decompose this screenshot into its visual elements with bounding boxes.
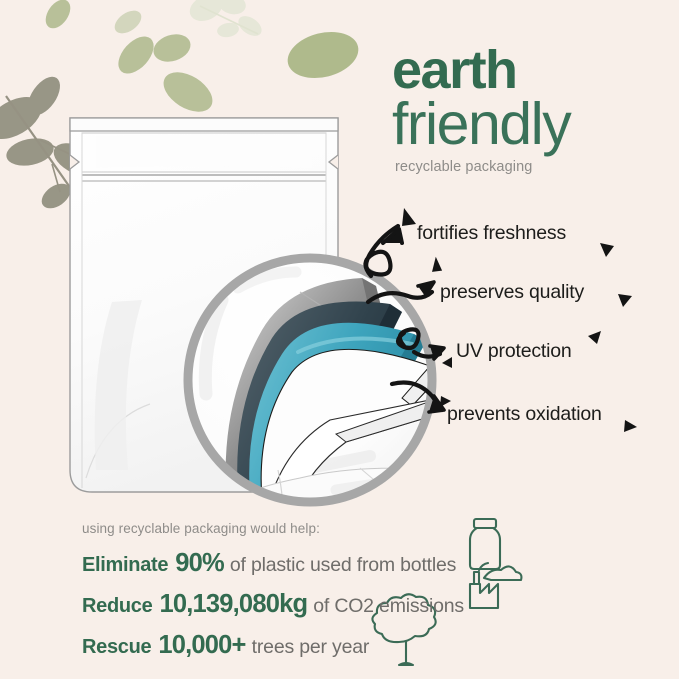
stat-description: of plastic used from bottles [230, 554, 456, 577]
feature-label-uv-protection: UV protection [456, 340, 572, 363]
stats-intro: using recyclable packaging would help: [82, 521, 602, 536]
headline-subtitle: recyclable packaging [395, 159, 672, 175]
stat-description: of CO2 emissions [313, 595, 464, 618]
headline-line-1: earth [392, 46, 672, 96]
stat-number: 10,000+ [158, 631, 245, 660]
stats-block: using recyclable packaging would help: E… [82, 521, 602, 672]
stat-number: 10,139,080kg [159, 590, 307, 619]
headline-line-2: friendly [392, 96, 672, 154]
stat-row-eliminate: Eliminate 90% of plastic used from bottl… [82, 549, 602, 578]
stat-row-reduce: Reduce 10,139,080kg of CO2 emissions [82, 590, 602, 619]
feature-label-preserves-quality: preserves quality [440, 281, 584, 304]
feature-label-prevents-oxidation: prevents oxidation [447, 403, 602, 426]
stat-number: 90% [175, 549, 224, 578]
stat-verb: Rescue [82, 636, 151, 659]
stat-verb: Eliminate [82, 554, 168, 577]
infographic-canvas: earth friendly recyclable packaging fort… [0, 0, 679, 679]
headline-block: earth friendly recyclable packaging [392, 46, 672, 175]
stat-verb: Reduce [82, 595, 152, 618]
stat-description: trees per year [252, 636, 370, 659]
feature-label-fortifies-freshness: fortifies freshness [417, 222, 566, 245]
stat-row-rescue: Rescue 10,000+ trees per year [82, 631, 602, 660]
